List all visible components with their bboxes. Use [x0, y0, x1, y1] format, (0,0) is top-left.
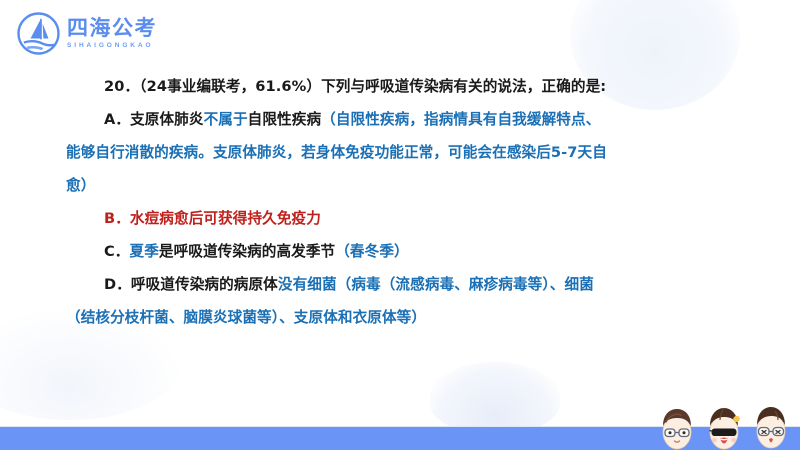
question-stem-text: 下列与呼吸道传染病有关的说法，正确的是:	[321, 78, 606, 95]
avatar-glasses-right	[748, 402, 794, 450]
option-b-line-1: B．水痘病愈后可获得持久免疫力	[66, 202, 766, 235]
option-d-seg-2: 没有细菌	[278, 276, 337, 293]
avatar-group	[654, 402, 794, 450]
option-b-seg-1: 水痘病愈后可获得持久免疫力	[130, 210, 321, 227]
question-content: 20．（24事业编联考，61.6%）下列与呼吸道传染病有关的说法，正确的是: A…	[66, 70, 766, 334]
brand-logo-text: 四海公考 SIHAIGONGKAO	[67, 18, 157, 50]
option-c-line-1: C．夏季是呼吸道传染病的高发季节（春冬季）	[66, 235, 766, 268]
option-a-line-1: A．支原体肺炎不属于自限性疾病（自限性疾病，指病情具有自我缓解特点、	[66, 103, 766, 136]
question-number: 20．	[104, 78, 139, 95]
brand-name-en: SIHAIGONGKAO	[67, 43, 157, 50]
option-a-seg-6: 愈）	[66, 177, 95, 194]
background-blob-center	[430, 362, 560, 432]
question-stem-line: 20．（24事业编联考，61.6%）下列与呼吸道传染病有关的说法，正确的是:	[66, 70, 766, 103]
option-a-seg-1: 支原体肺炎	[130, 111, 203, 128]
option-a-line-3: 愈）	[66, 169, 766, 202]
option-a-seg-3: 自限性疾病	[248, 111, 321, 128]
option-d-seg-4: （结核分枝杆菌、脑膜炎球菌等）、支原体和衣原体等）	[66, 309, 426, 326]
avatar-sunglasses-middle	[701, 402, 747, 450]
option-c-seg-3: （春冬季）	[335, 243, 408, 260]
option-d-key: D．	[104, 276, 131, 293]
brand-logo: 四海公考 SIHAIGONGKAO	[17, 12, 157, 55]
option-c-key: C．	[104, 243, 130, 260]
option-b-key: B．	[104, 210, 130, 227]
slide-root: 四海公考 SIHAIGONGKAO 20．（24事业编联考，61.6%）下列与呼…	[0, 0, 800, 450]
option-a-seg-4: （自限性疾病，指病情具有自我缓解特点、	[321, 111, 600, 128]
avatar-glasses-left	[654, 402, 700, 450]
option-a-seg-5: 能够自行消散的疾病。支原体肺炎，若身体免疫功能正常，可能会在感染后5-7天自	[66, 144, 607, 161]
option-a-line-2: 能够自行消散的疾病。支原体肺炎，若身体免疫功能正常，可能会在感染后5-7天自	[66, 136, 766, 169]
brand-name-cn: 四海公考	[67, 18, 157, 39]
option-a-seg-2: 不属于	[204, 111, 248, 128]
option-c-seg-1: 夏季	[130, 243, 159, 260]
question-source-tag: （24事业编联考，61.6%）	[139, 78, 321, 95]
option-d-seg-1: 呼吸道传染病的病原体	[131, 276, 278, 293]
option-c-seg-2: 是呼吸道传染病的高发季节	[159, 243, 335, 260]
option-a-key: A．	[104, 111, 130, 128]
option-d-line-1: D．呼吸道传染病的病原体没有细菌（病毒（流感病毒、麻疹病毒等）、细菌	[66, 268, 766, 301]
option-d-line-2: （结核分枝杆菌、脑膜炎球菌等）、支原体和衣原体等）	[66, 301, 766, 334]
option-d-seg-3: （病毒（流感病毒、麻疹病毒等）、细菌	[337, 276, 594, 293]
sailboat-circle-icon	[17, 12, 60, 55]
